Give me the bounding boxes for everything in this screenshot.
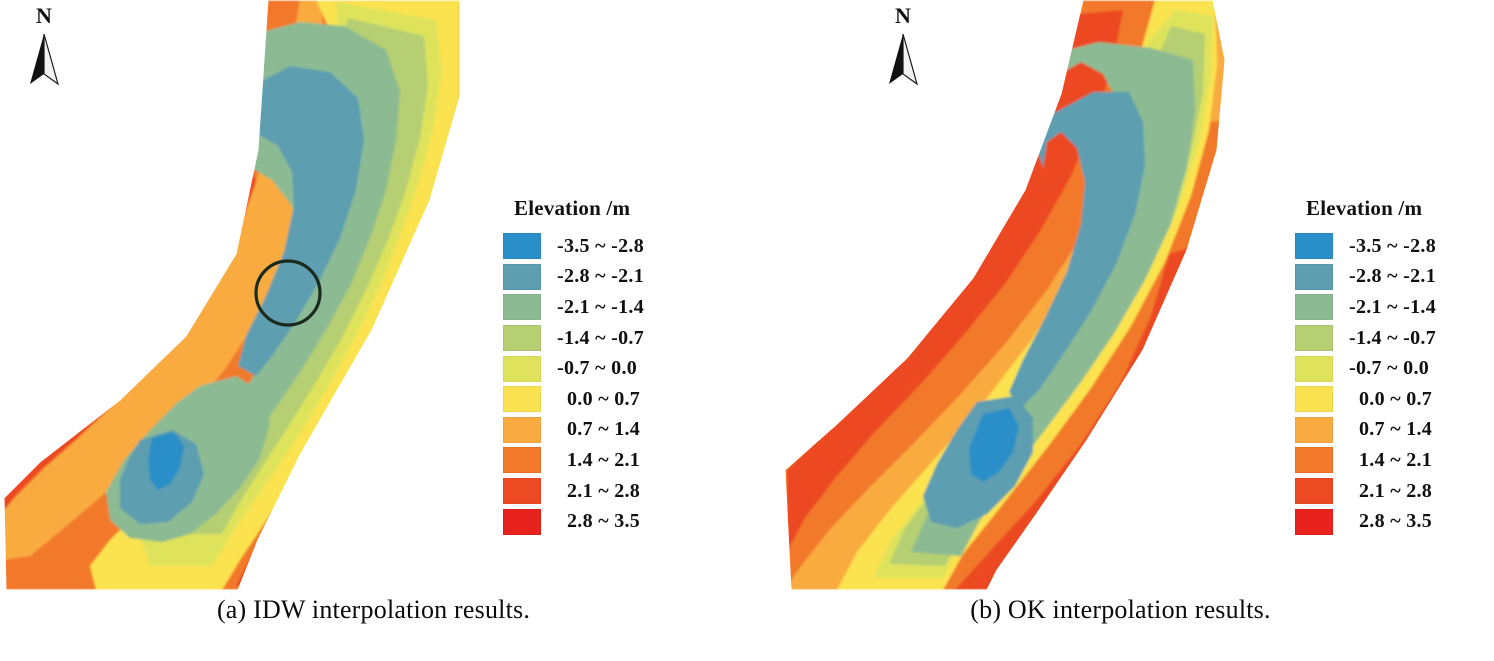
legend-swatch [503,294,541,320]
panel-idw: N Elevation /m -3.5 ~ -2.8 -2.8 ~ -2.1 [0,0,747,661]
legend-row[interactable]: -0.7 ~ 0.0 [1262,353,1436,384]
legend-title: Elevation /m [1306,196,1436,221]
legend-swatch [503,447,541,473]
legend-swatch [1295,325,1333,351]
legend-label: 2.8 ~ 3.5 [567,510,640,533]
north-arrow-icon [18,30,70,88]
legend-swatch [1295,294,1333,320]
north-label: N [877,2,929,30]
legend-swatch [1295,509,1333,535]
legend-row[interactable]: -2.1 ~ -1.4 [1262,292,1436,323]
legend-swatch [1295,386,1333,412]
legend-row[interactable]: -2.1 ~ -1.4 [470,292,644,323]
legend-ok: Elevation /m -3.5 ~ -2.8 -2.8 ~ -2.1 -2.… [1262,196,1436,537]
legend-swatch [503,478,541,504]
legend-label: 0.0 ~ 0.7 [1359,388,1432,411]
legend-label: -2.1 ~ -1.4 [557,296,644,319]
legend-label: -0.7 ~ 0.0 [557,357,637,380]
legend-row[interactable]: -2.8 ~ -2.1 [470,262,644,293]
legend-label: -3.5 ~ -2.8 [1349,235,1436,258]
legend-label: 1.4 ~ 2.1 [1359,449,1432,472]
north-arrow-ok: N [877,2,929,88]
legend-row[interactable]: 0.0 ~ 0.7 [470,384,644,415]
legend-swatch [503,325,541,351]
legend-swatch [503,509,541,535]
legend-title: Elevation /m [514,196,644,221]
legend-swatch [1295,417,1333,443]
legend-row[interactable]: 2.8 ~ 3.5 [1262,506,1436,537]
legend-row[interactable]: -3.5 ~ -2.8 [1262,231,1436,262]
legend-label: -3.5 ~ -2.8 [557,235,644,258]
legend-row[interactable]: -0.7 ~ 0.0 [470,353,644,384]
legend-swatch [1295,356,1333,382]
legend-label: -1.4 ~ -0.7 [557,327,644,350]
legend-label: 0.7 ~ 1.4 [567,418,640,441]
legend-swatch [503,417,541,443]
legend-row[interactable]: 0.7 ~ 1.4 [1262,415,1436,446]
legend-label: 2.1 ~ 2.8 [567,480,640,503]
north-arrow-icon [877,30,929,88]
panel-caption-idw: (a) IDW interpolation results. [0,595,747,625]
legend-label: 2.1 ~ 2.8 [1359,480,1432,503]
panel-caption-ok: (b) OK interpolation results. [747,595,1494,625]
legend-label: -0.7 ~ 0.0 [1349,357,1429,380]
legend-row[interactable]: -3.5 ~ -2.8 [470,231,644,262]
legend-label: -1.4 ~ -0.7 [1349,327,1436,350]
legend-swatch [503,356,541,382]
legend-swatch [1295,447,1333,473]
legend-label: -2.1 ~ -1.4 [1349,296,1436,319]
figure-root: N Elevation /m -3.5 ~ -2.8 -2.8 ~ -2.1 [0,0,1494,661]
legend-row[interactable]: 1.4 ~ 2.1 [470,445,644,476]
legend-row[interactable]: 2.1 ~ 2.8 [470,476,644,507]
legend-row[interactable]: 0.7 ~ 1.4 [470,415,644,446]
legend-swatch [1295,264,1333,290]
legend-swatch [503,386,541,412]
north-label: N [18,2,70,30]
legend-rows: -3.5 ~ -2.8 -2.8 ~ -2.1 -2.1 ~ -1.4 -1.4… [1262,231,1436,537]
legend-row[interactable]: 1.4 ~ 2.1 [1262,445,1436,476]
legend-row[interactable]: -2.8 ~ -2.1 [1262,262,1436,293]
band-2.8-3.5 [935,156,985,216]
legend-label: -2.8 ~ -2.1 [1349,265,1436,288]
north-arrow-idw: N [18,2,70,88]
panel-ok: N Elevation /m -3.5 ~ -2.8 -2.8 ~ -2.1 [747,0,1494,661]
legend-rows: -3.5 ~ -2.8 -2.8 ~ -2.1 -2.1 ~ -1.4 -1.4… [470,231,644,537]
legend-row[interactable]: 2.8 ~ 3.5 [470,506,644,537]
legend-label: -2.8 ~ -2.1 [557,265,644,288]
legend-row[interactable]: -1.4 ~ -0.7 [1262,323,1436,354]
legend-swatch [1295,233,1333,259]
legend-label: 1.4 ~ 2.1 [567,449,640,472]
legend-row[interactable]: 2.1 ~ 2.8 [1262,476,1436,507]
legend-swatch [1295,478,1333,504]
legend-label: 0.0 ~ 0.7 [567,388,640,411]
legend-swatch [503,233,541,259]
legend-swatch [503,264,541,290]
legend-row[interactable]: 0.0 ~ 0.7 [1262,384,1436,415]
legend-row[interactable]: -1.4 ~ -0.7 [470,323,644,354]
legend-label: 2.8 ~ 3.5 [1359,510,1432,533]
legend-idw: Elevation /m -3.5 ~ -2.8 -2.8 ~ -2.1 -2.… [470,196,644,537]
legend-label: 0.7 ~ 1.4 [1359,418,1432,441]
